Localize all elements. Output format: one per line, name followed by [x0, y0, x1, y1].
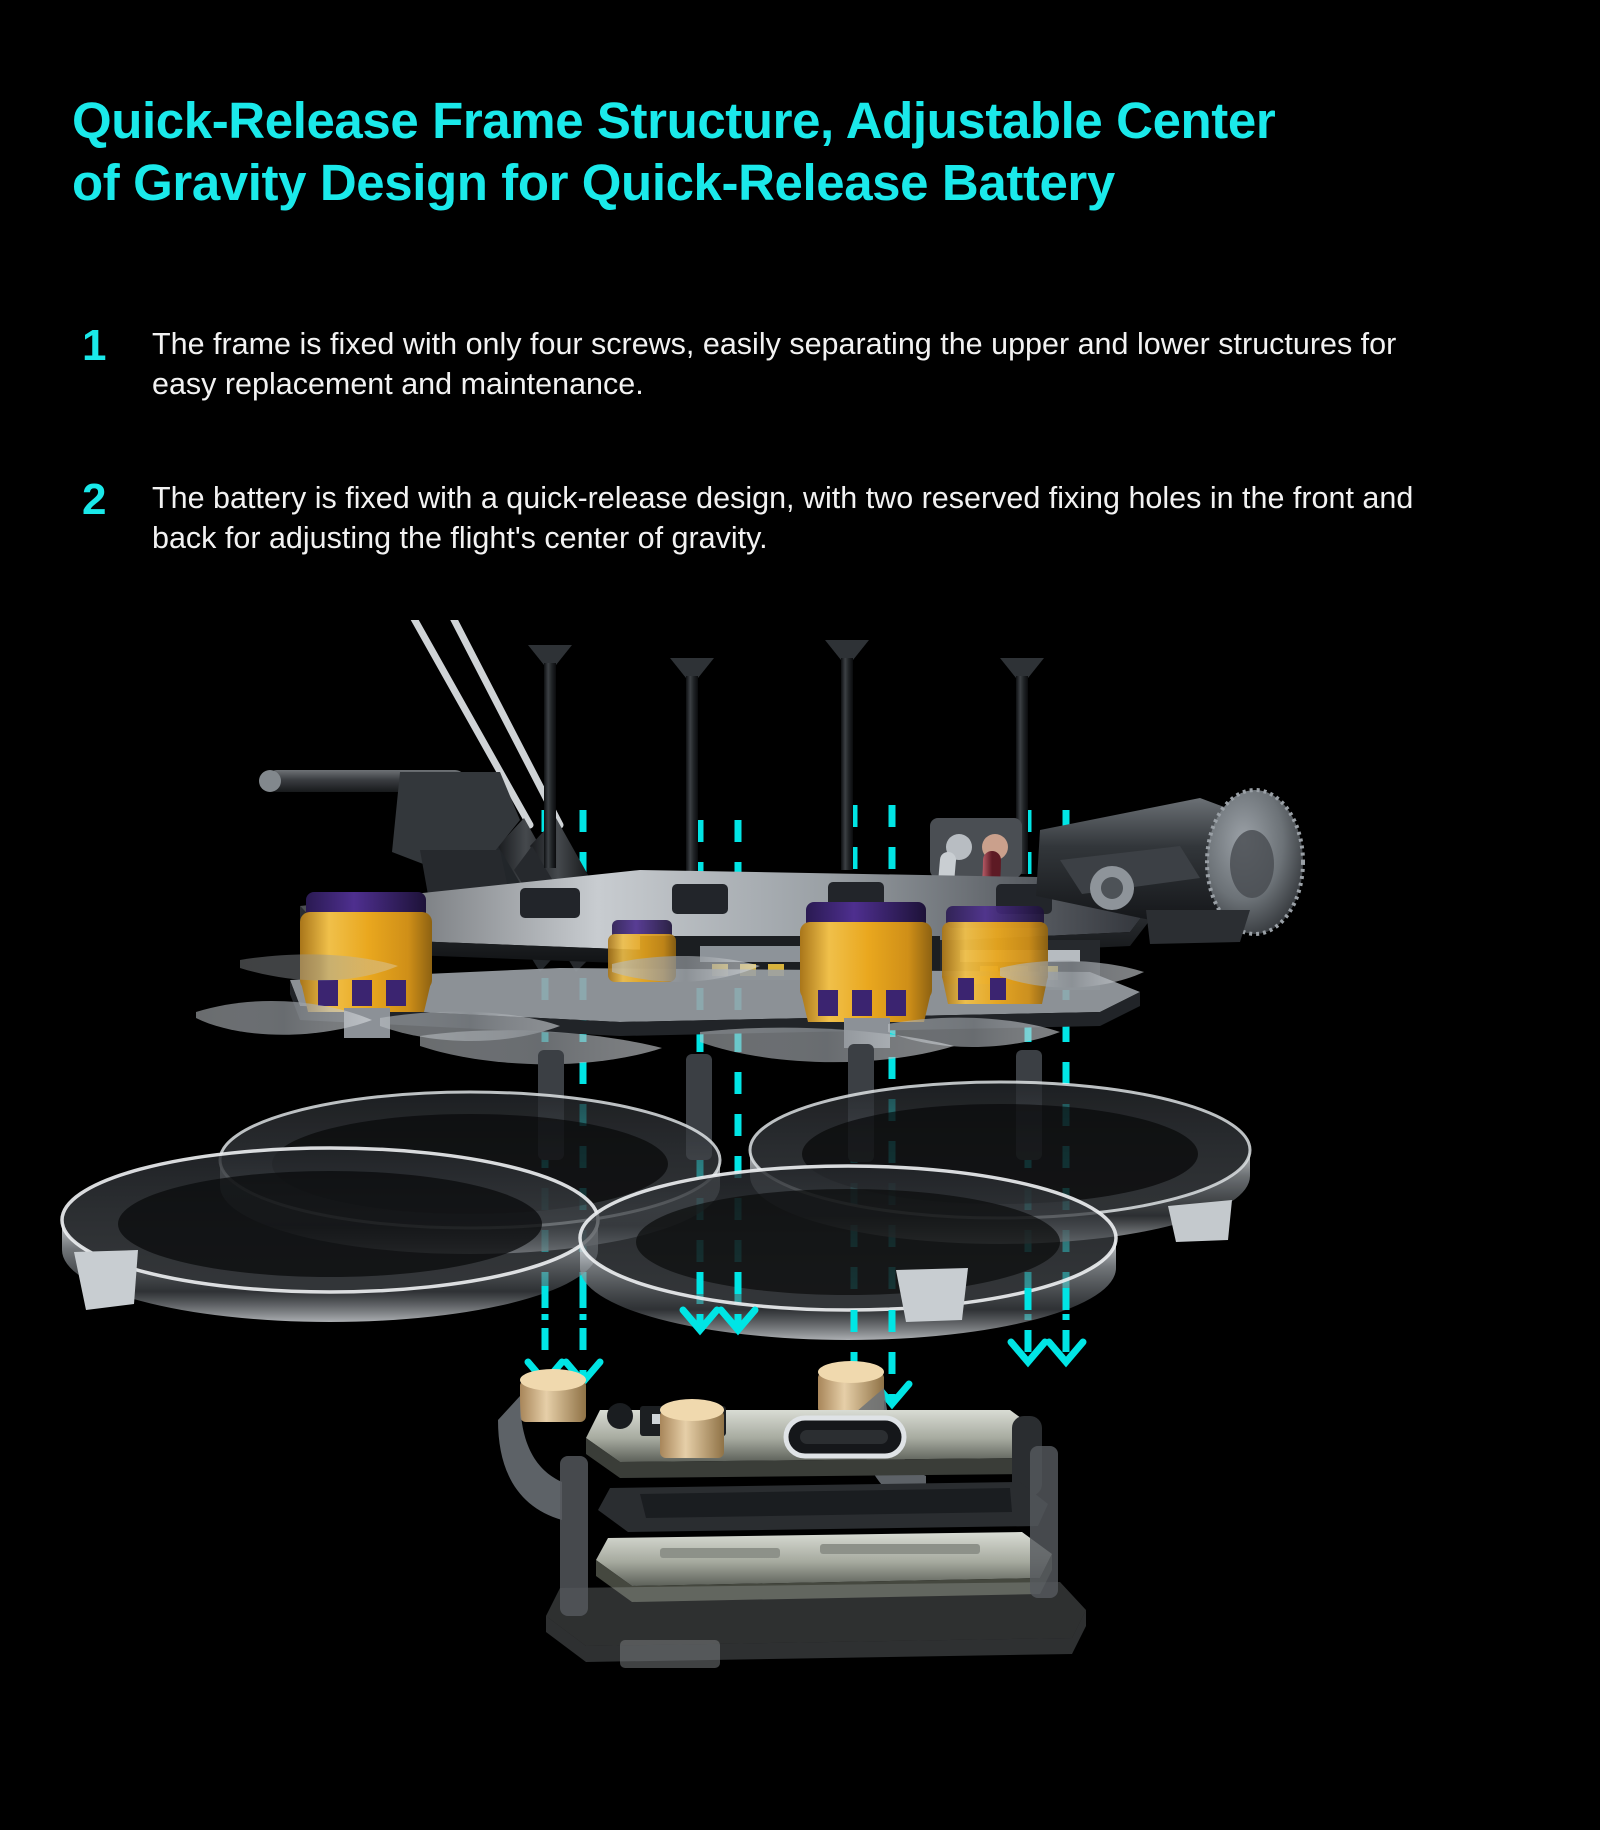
- list-item-number: 2: [82, 475, 132, 526]
- side-rail-left: [560, 1456, 588, 1616]
- standoff-rear-left: [520, 1369, 586, 1422]
- standoff-front-left: [660, 1399, 724, 1458]
- fc-board-top: [586, 1403, 1040, 1478]
- duct-front-right: [580, 1166, 1116, 1340]
- screw-3: [825, 640, 869, 870]
- screw-1: [528, 645, 572, 868]
- side-rail-right: [1030, 1446, 1058, 1598]
- landing-foot: [896, 1268, 968, 1322]
- page-title-line-1: Quick-Release Frame Structure, Adjustabl…: [72, 90, 1572, 152]
- landing-foot: [1168, 1200, 1232, 1242]
- list-item-number: 1: [82, 321, 132, 372]
- guide-arrow-1: [528, 1286, 600, 1382]
- page-root: Quick-Release Frame Structure, Adjustabl…: [0, 0, 1600, 1830]
- screw-2: [670, 658, 714, 874]
- flight-controller-stack: [498, 1361, 1086, 1668]
- feature-list: 1 The frame is fixed with only four scre…: [72, 325, 1532, 633]
- vtx-mount-arm: [259, 770, 520, 906]
- lower-duct-guard: [62, 1044, 1250, 1340]
- upper-assembly: [196, 620, 1303, 1064]
- list-item: 1 The frame is fixed with only four scre…: [72, 325, 1532, 421]
- list-item: 2 The battery is fixed with a quick-rele…: [72, 479, 1532, 575]
- page-title-line-2: of Gravity Design for Quick-Release Batt…: [72, 152, 1572, 214]
- motor-rear-right: [942, 906, 1048, 1004]
- tray-tab: [620, 1640, 720, 1668]
- duct-front-left: [62, 1148, 598, 1322]
- landing-foot: [74, 1250, 138, 1310]
- list-item-text: The battery is fixed with a quick-releas…: [152, 479, 1442, 558]
- product-model-layer: [0, 620, 1600, 1830]
- battery-tray-base: [546, 1582, 1086, 1668]
- page-title: Quick-Release Frame Structure, Adjustabl…: [72, 90, 1572, 214]
- fc-board-mid: [598, 1482, 1048, 1532]
- list-item-text: The frame is fixed with only four screws…: [152, 325, 1442, 404]
